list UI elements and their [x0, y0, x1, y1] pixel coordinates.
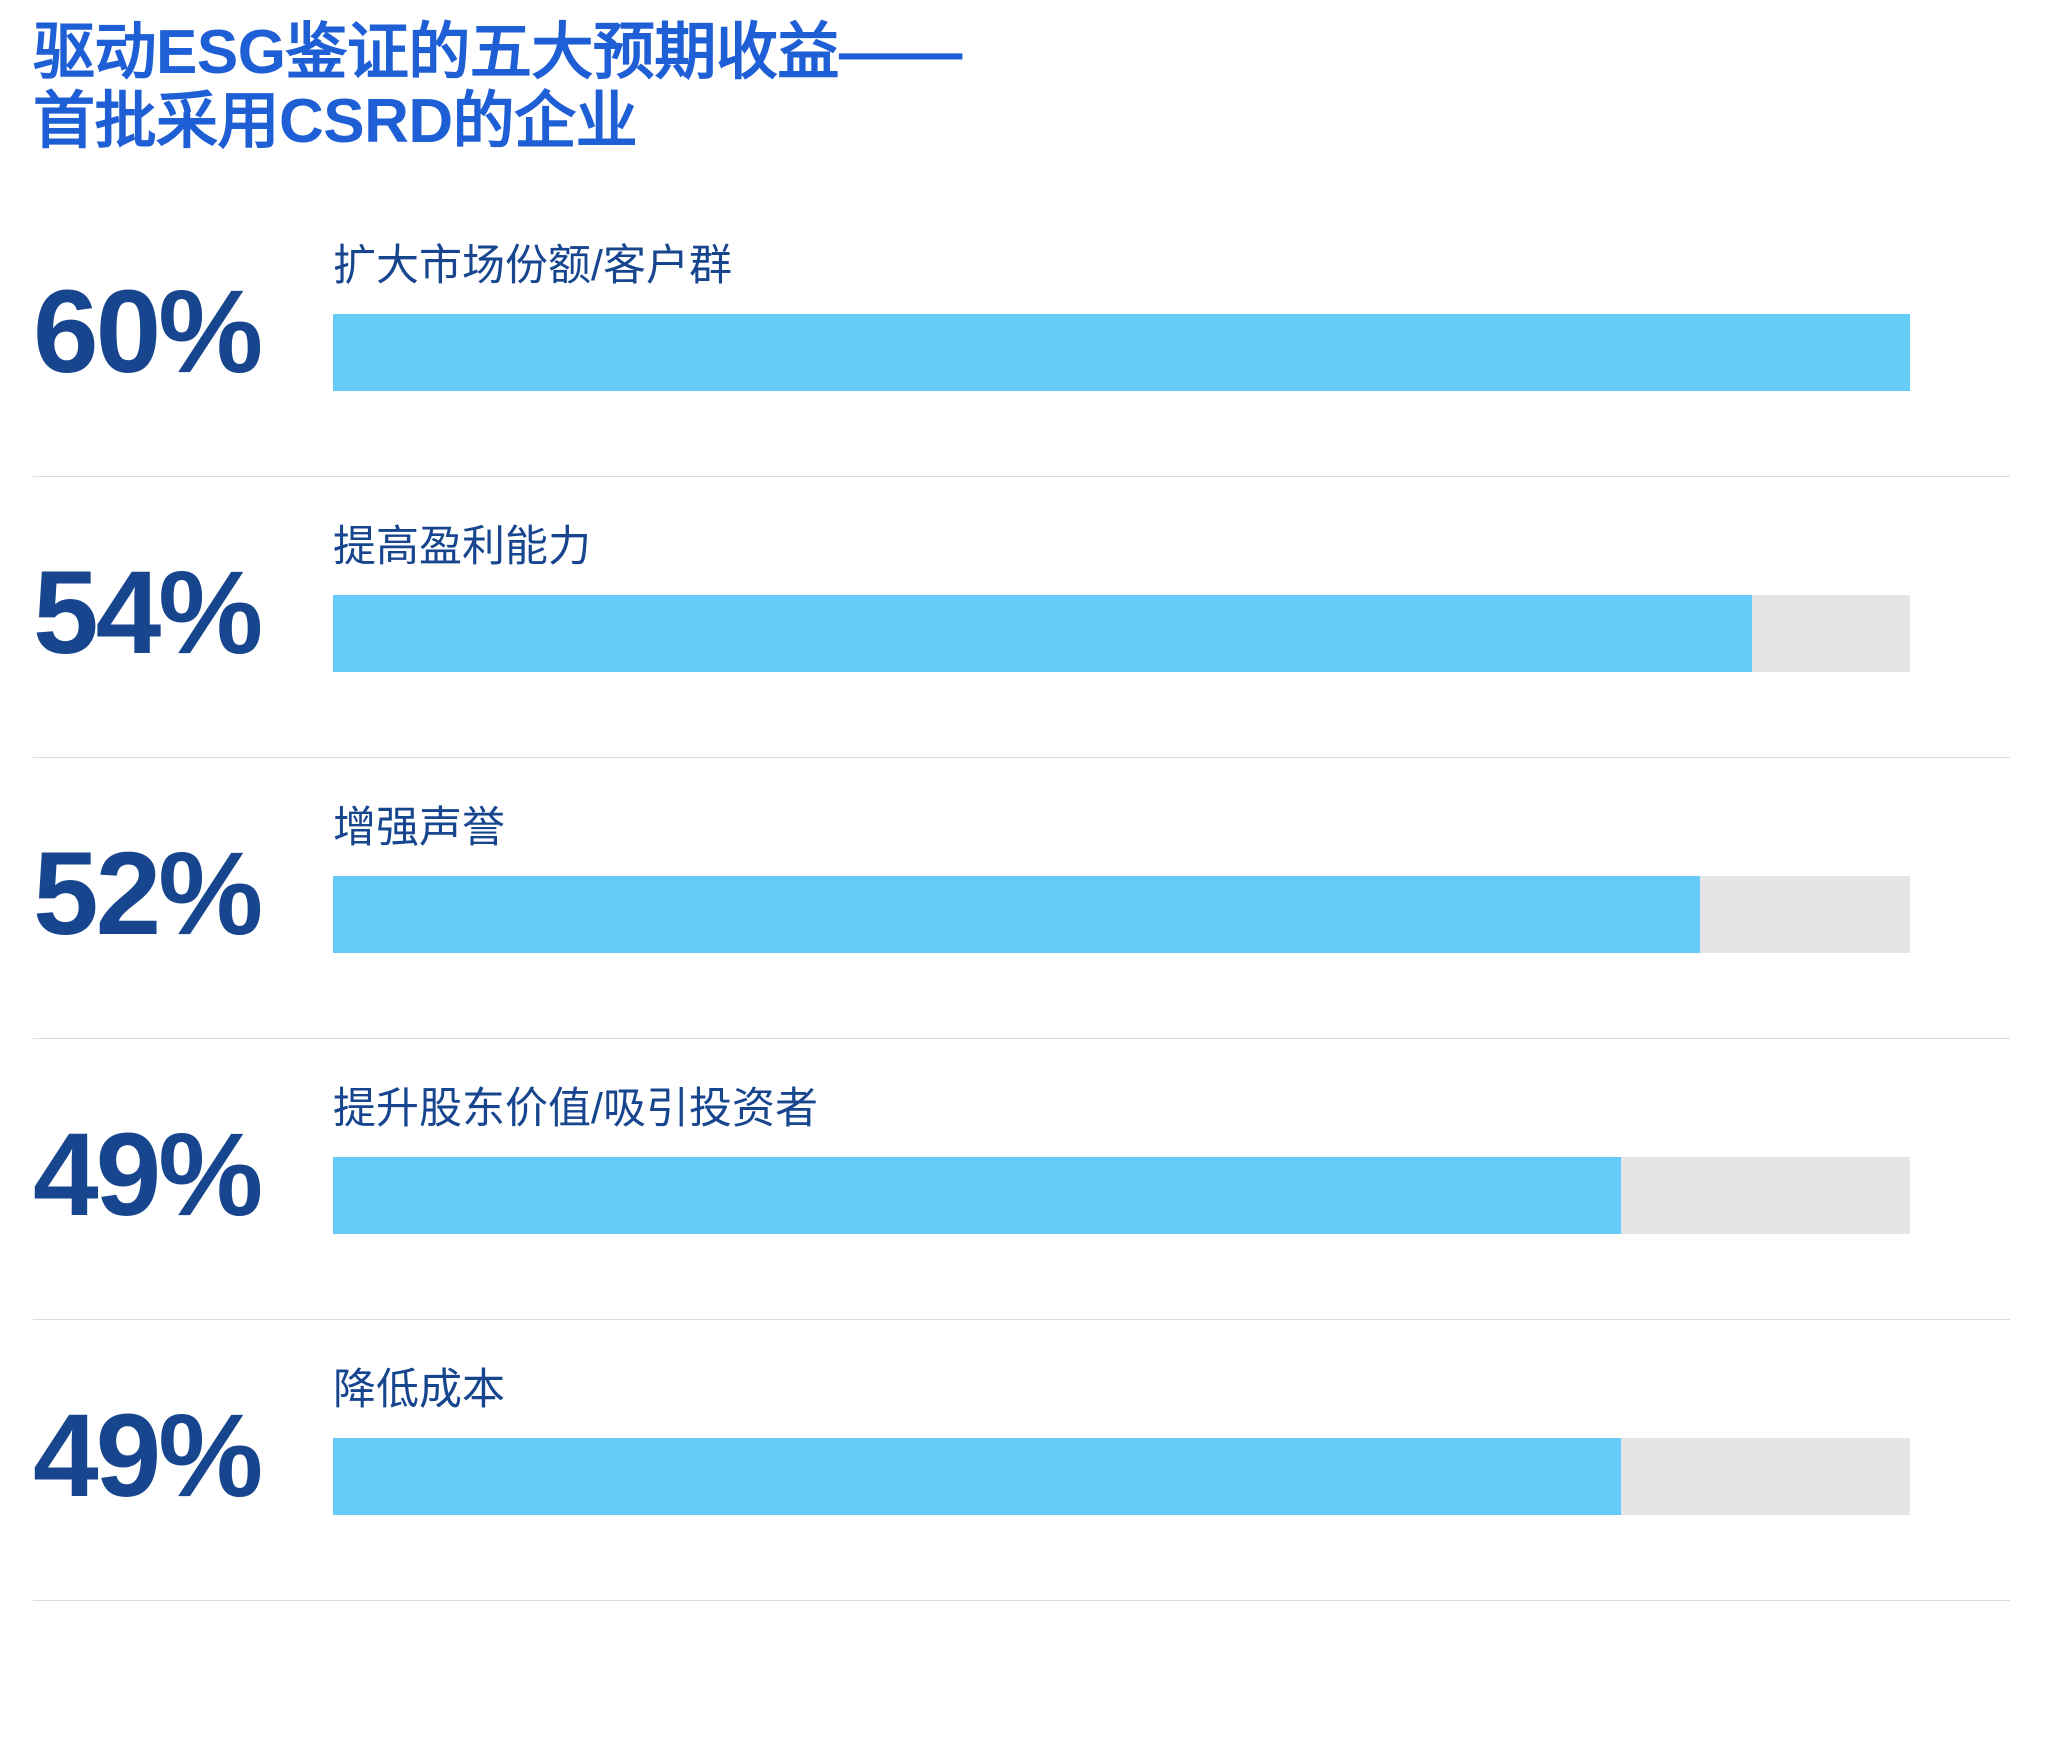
bar-fill — [333, 876, 1700, 953]
row-category-label: 提高盈利能力 — [333, 526, 1910, 569]
bar-fill — [333, 595, 1752, 672]
row-category-label: 扩大市场份额/客户群 — [333, 245, 1910, 288]
row-bar-area: 提升股东价值/吸引投资者 — [333, 1088, 1910, 1234]
bar-fill — [333, 1438, 1621, 1515]
bar-track — [333, 876, 1910, 953]
bar-track — [333, 314, 1910, 391]
bar-fill — [333, 1157, 1621, 1234]
row-category-label: 提升股东价值/吸引投资者 — [333, 1088, 1910, 1131]
row-category-label: 增强声誉 — [333, 807, 1910, 850]
bar-track — [333, 595, 1910, 672]
page-title: 驱动ESG鉴证的五大预期收益—— 首批采用CSRD的企业 — [33, 18, 1533, 157]
row-category-label: 降低成本 — [333, 1369, 1910, 1412]
bar-track — [333, 1438, 1910, 1515]
title-line-1: 驱动ESG鉴证的五大预期收益—— — [33, 18, 1533, 87]
bar-track — [333, 1157, 1910, 1234]
chart-row: 49% 提升股东价值/吸引投资者 — [0, 1039, 2048, 1320]
row-bar-area: 增强声誉 — [333, 807, 1910, 953]
title-line-2: 首批采用CSRD的企业 — [33, 87, 1533, 156]
bar-chart-rows: 60% 扩大市场份额/客户群 54% 提高盈利能力 — [0, 196, 2048, 1601]
row-value-label: 60% — [33, 273, 298, 391]
row-bar-area: 降低成本 — [333, 1369, 1910, 1515]
row-bar-area: 提高盈利能力 — [333, 526, 1910, 672]
row-value-label: 49% — [33, 1397, 298, 1515]
row-divider — [33, 1600, 2010, 1601]
row-value-label: 52% — [33, 835, 298, 953]
chart-row: 49% 降低成本 — [0, 1320, 2048, 1601]
row-value-label: 54% — [33, 554, 298, 672]
bar-fill — [333, 314, 1910, 391]
row-value-label: 49% — [33, 1116, 298, 1234]
chart-row: 52% 增强声誉 — [0, 758, 2048, 1039]
infographic-root: 驱动ESG鉴证的五大预期收益—— 首批采用CSRD的企业 60% 扩大市场份额/… — [0, 0, 2048, 1744]
chart-row: 60% 扩大市场份额/客户群 — [0, 196, 2048, 477]
row-bar-area: 扩大市场份额/客户群 — [333, 245, 1910, 391]
chart-row: 54% 提高盈利能力 — [0, 477, 2048, 758]
